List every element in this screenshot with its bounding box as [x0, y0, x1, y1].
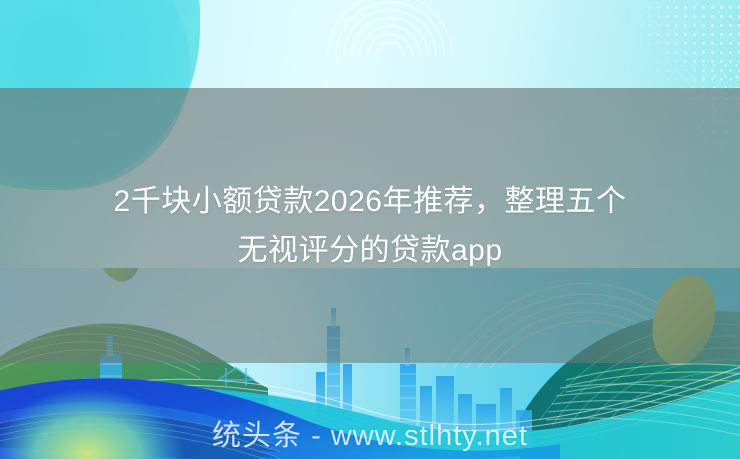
halftone-dots-right — [654, 60, 740, 180]
image-canvas: 2千块小额贷款2026年推荐，整理五个 无视评分的贷款app 统头条 - www… — [0, 0, 740, 459]
concentric-arcs-icon — [318, 0, 458, 64]
watermark-text: 统头条 - www.stlhty.net — [0, 421, 740, 451]
page-title: 2千块小额贷款2026年推荐，整理五个 无视评分的贷款app — [0, 177, 740, 275]
